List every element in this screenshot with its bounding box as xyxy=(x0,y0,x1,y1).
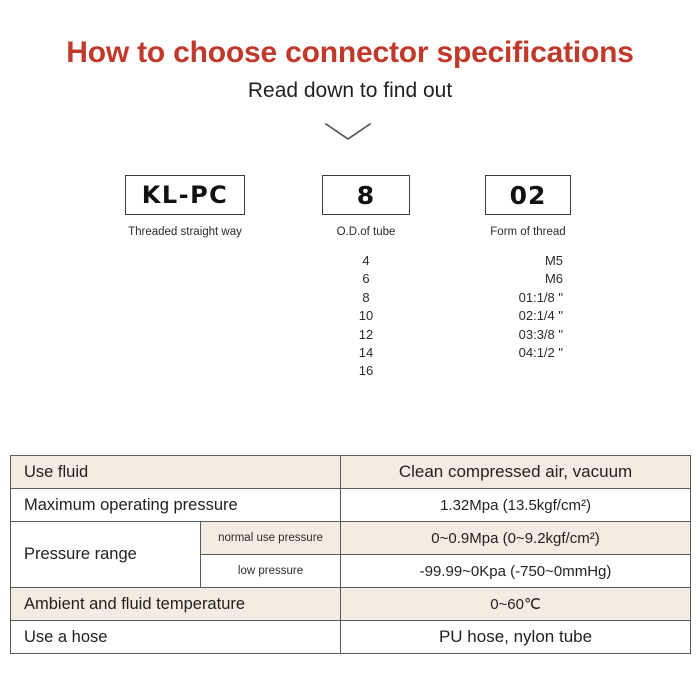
spec-value-text: -99.99~0Kpa (-750~0mmHg) xyxy=(420,563,612,580)
table-row: Pressure range normal use pressure 0~0.9… xyxy=(11,522,691,555)
spec-sublabel-low-pressure: low pressure xyxy=(201,555,341,588)
code-value-od-of-tube: 8 xyxy=(357,183,375,208)
spec-label-pressure-range: Pressure range xyxy=(11,522,201,588)
spec-value: 1.32Mpa (13.5kgf/cm²) xyxy=(341,489,691,522)
option-item: 03:3/8 " xyxy=(485,326,571,344)
option-item: 12 xyxy=(322,326,410,344)
table-row: Use fluid Clean compressed air, vacuum xyxy=(11,456,691,489)
code-box-series: KL-PC xyxy=(125,175,245,215)
spec-value: Clean compressed air, vacuum xyxy=(341,456,691,489)
option-item: 4 xyxy=(322,252,410,270)
option-list-form-of-thread: M5 M6 01:1/8 " 02:1/4 " 03:3/8 " 04:1/2 … xyxy=(485,252,571,362)
option-item: 04:1/2 " xyxy=(485,344,571,362)
option-item: M6 xyxy=(485,270,571,288)
table-row: Ambient and fluid temperature 0~60℃ xyxy=(11,588,691,621)
option-item: 01:1/8 " xyxy=(485,289,571,307)
option-item: 6 xyxy=(322,270,410,288)
spec-label: Maximum operating pressure xyxy=(11,489,341,522)
spec-value-text: 0~0.9Mpa (0~9.2kgf/cm²) xyxy=(431,530,599,547)
code-caption-series: Threaded straight way xyxy=(125,226,245,238)
chevron-down-icon xyxy=(318,118,378,146)
spec-value: PU hose, nylon tube xyxy=(341,621,691,654)
table-row: Use a hose PU hose, nylon tube xyxy=(11,621,691,654)
page-title: How to choose connector specifications xyxy=(0,36,700,70)
option-list-od-of-tube: 4 6 8 10 12 14 16 xyxy=(322,252,410,381)
spec-sublabel-normal-use-pressure: normal use pressure xyxy=(201,522,341,555)
spec-label: Use fluid xyxy=(11,456,341,489)
spec-value: -99.99~0Kpa (-750~0mmHg) xyxy=(341,555,691,588)
specification-table: Use fluid Clean compressed air, vacuum M… xyxy=(10,455,691,654)
page-subtitle: Read down to find out xyxy=(0,79,700,103)
option-item: 16 xyxy=(322,362,410,380)
option-item: 02:1/4 " xyxy=(485,307,571,325)
option-item: 10 xyxy=(322,307,410,325)
spec-label: Use a hose xyxy=(11,621,341,654)
code-value-form-of-thread: 02 xyxy=(510,183,547,208)
code-column-form-of-thread: 02 Form of thread M5 M6 01:1/8 " 02:1/4 … xyxy=(485,175,571,362)
spec-value: 0~60℃ xyxy=(341,588,691,621)
code-box-od-of-tube: 8 xyxy=(322,175,410,215)
spec-label: Ambient and fluid temperature xyxy=(11,588,341,621)
code-column-od-of-tube: 8 O.D.of tube 4 6 8 10 12 14 16 xyxy=(322,175,410,381)
code-caption-form-of-thread: Form of thread xyxy=(485,226,571,238)
spec-value: 0~0.9Mpa (0~9.2kgf/cm²) xyxy=(341,522,691,555)
option-item: M5 xyxy=(485,252,571,270)
option-item: 14 xyxy=(322,344,410,362)
spec-value-text: 1.32Mpa (13.5kgf/cm²) xyxy=(440,497,591,514)
code-caption-od-of-tube: O.D.of tube xyxy=(322,226,410,238)
code-box-form-of-thread: 02 xyxy=(485,175,571,215)
table-row: Maximum operating pressure 1.32Mpa (13.5… xyxy=(11,489,691,522)
code-column-series: KL-PC Threaded straight way xyxy=(125,175,245,238)
code-value-series: KL-PC xyxy=(142,183,229,207)
option-item: 8 xyxy=(322,289,410,307)
